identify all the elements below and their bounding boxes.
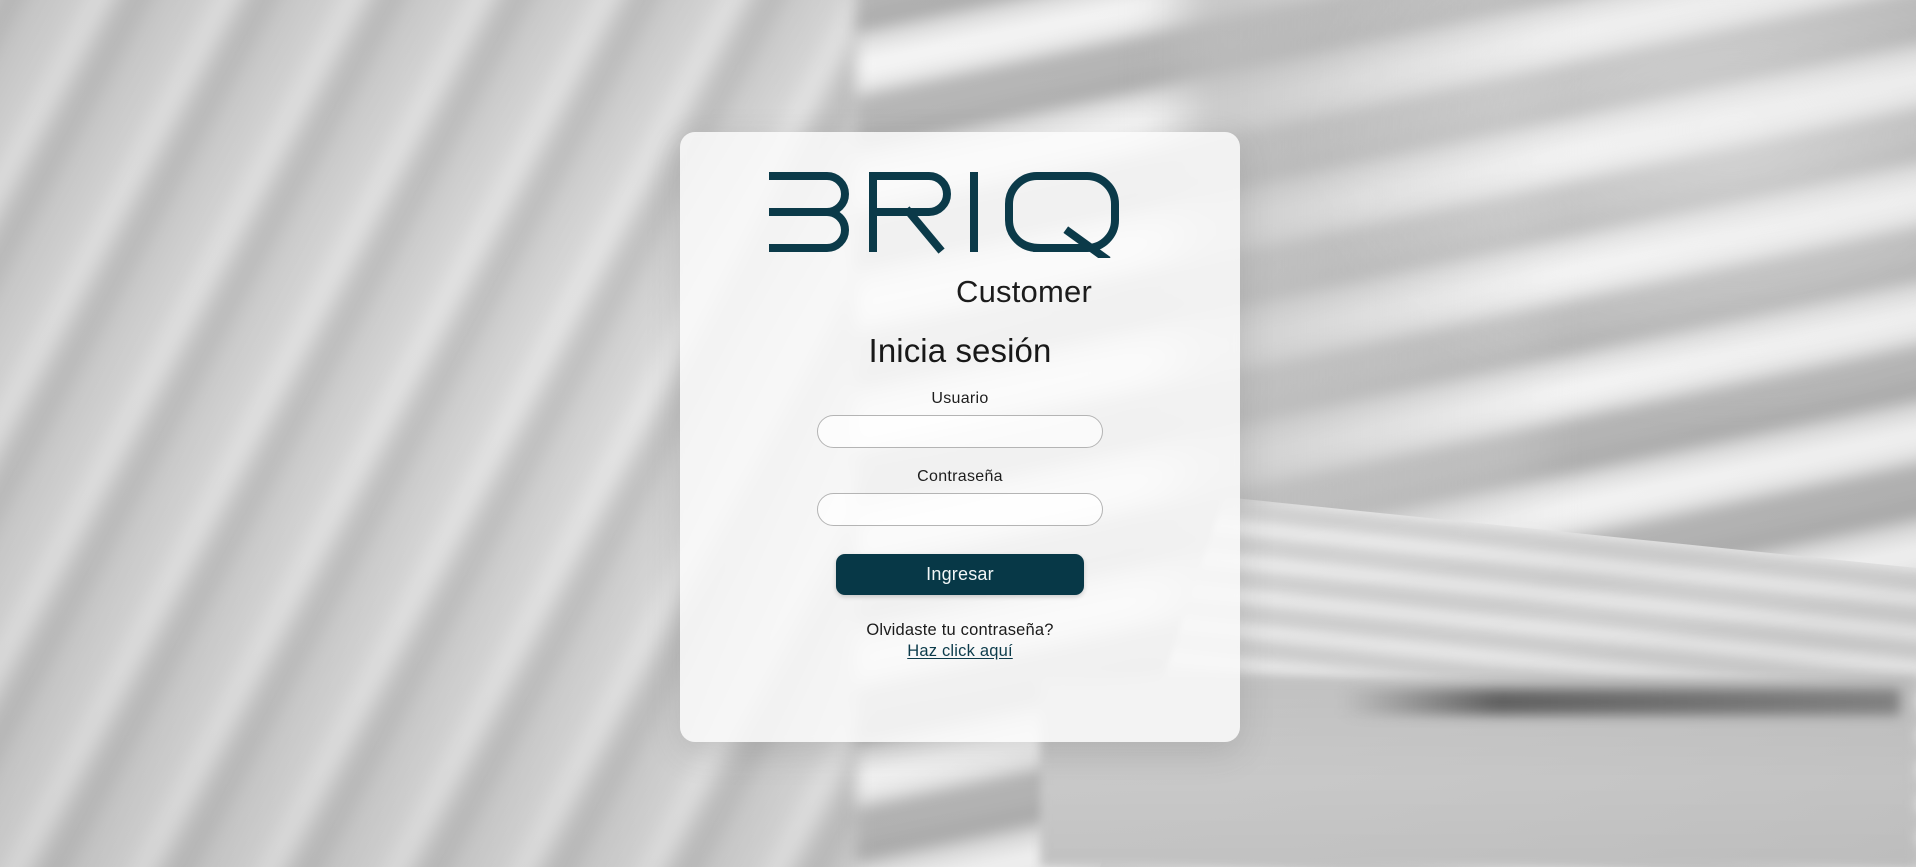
forgot-password-text: Olvidaste tu contraseña? [866, 621, 1053, 640]
usuario-label: Usuario [931, 390, 988, 408]
brand-logo-wrap [680, 166, 1240, 258]
ingresar-button[interactable]: Ingresar [836, 554, 1084, 595]
usuario-input[interactable] [817, 415, 1103, 448]
forgot-password-link[interactable]: Haz click aquí [907, 642, 1013, 661]
contrasena-input[interactable] [817, 493, 1103, 526]
page-title: Inicia sesión [869, 332, 1052, 370]
usuario-field-group: Usuario [817, 390, 1103, 448]
brand-subtitle: Customer [680, 274, 1240, 310]
contrasena-label: Contraseña [917, 468, 1003, 486]
forgot-password-block: Olvidaste tu contraseña? Haz click aquí [866, 621, 1053, 661]
login-card: Customer Inicia sesión Usuario Contraseñ… [680, 132, 1240, 742]
briq-wordmark-logo [769, 166, 1151, 258]
contrasena-field-group: Contraseña [817, 468, 1103, 526]
